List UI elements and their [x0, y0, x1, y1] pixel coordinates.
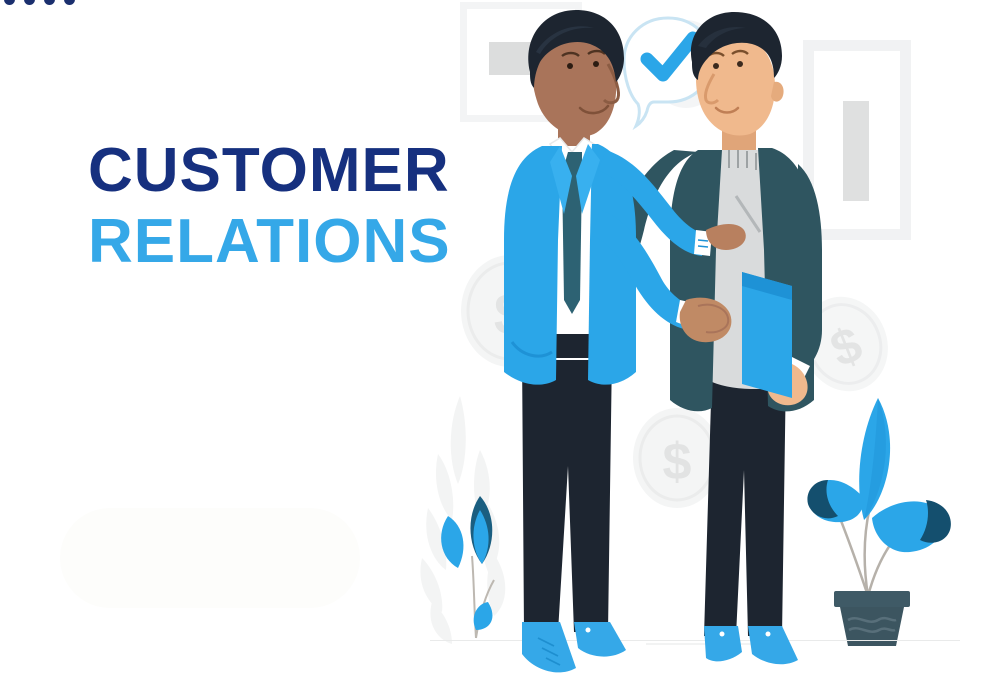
page-title: CUSTOMER RELATIONS: [88, 142, 451, 272]
shoe: [574, 622, 626, 657]
watermark-blob: [60, 508, 360, 608]
trousers-left: [522, 352, 612, 632]
shoe: [704, 626, 742, 661]
title-line-1: CUSTOMER: [88, 142, 451, 201]
dot: [64, 0, 75, 5]
dot: [24, 0, 35, 5]
title-line-2: RELATIONS: [88, 213, 451, 272]
top-left-dots: [4, 0, 75, 5]
poster-canvas: CUSTOMER RELATIONS $ $ $: [0, 0, 1000, 675]
illustration-people: [430, 0, 900, 675]
dot: [4, 0, 15, 5]
shoe: [522, 622, 576, 672]
dot: [44, 0, 55, 5]
shoe: [748, 626, 798, 664]
suit-left-panel: [504, 146, 562, 385]
